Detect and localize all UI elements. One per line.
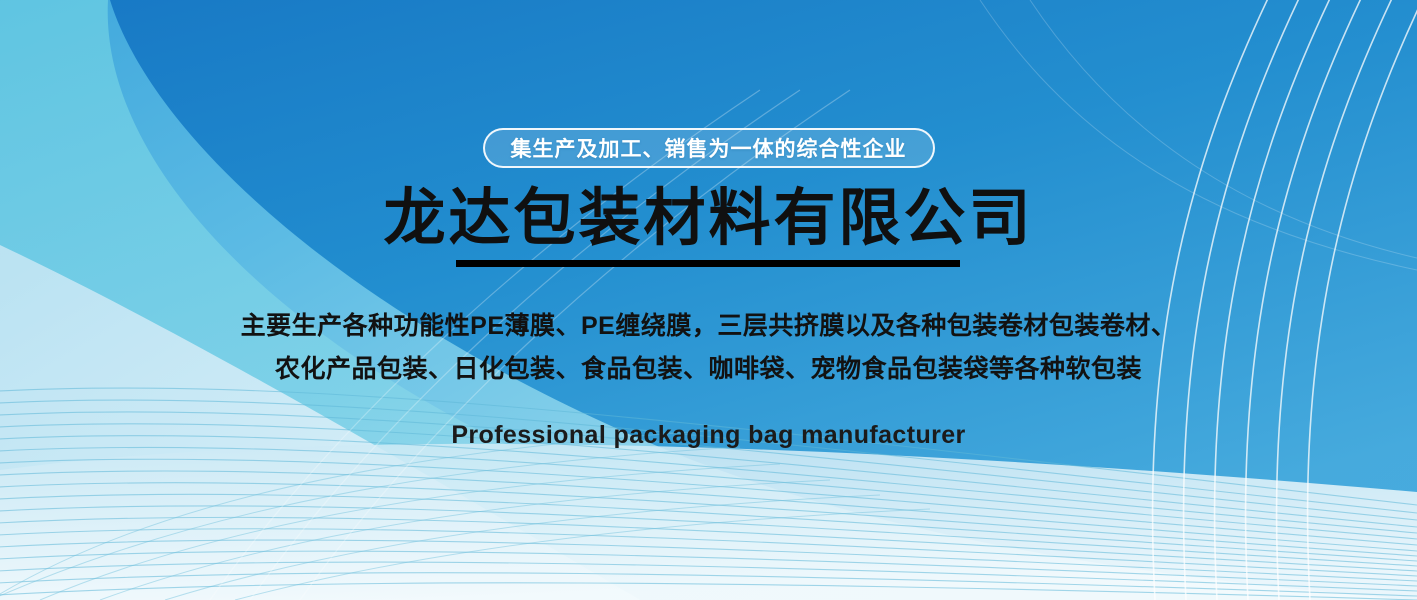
title-underline-rule xyxy=(456,260,960,267)
banner-content: 集生产及加工、销售为一体的综合性企业 龙达包装材料有限公司 主要生产各种功能性P… xyxy=(0,0,1417,600)
promo-banner: 集生产及加工、销售为一体的综合性企业 龙达包装材料有限公司 主要生产各种功能性P… xyxy=(0,0,1417,600)
company-title: 龙达包装材料有限公司 xyxy=(383,186,1033,251)
title-block: 龙达包装材料有限公司 xyxy=(383,186,1033,267)
description-line-1: 主要生产各种功能性PE薄膜、PE缠绕膜，三层共挤膜以及各种包装卷材包装卷材、 xyxy=(241,305,1177,348)
description-line-2: 农化产品包装、日化包装、食品包装、咖啡袋、宠物食品包装袋等各种软包装 xyxy=(241,348,1177,391)
description-block: 主要生产各种功能性PE薄膜、PE缠绕膜，三层共挤膜以及各种包装卷材包装卷材、 农… xyxy=(241,305,1177,391)
tagline-pill: 集生产及加工、销售为一体的综合性企业 xyxy=(483,128,935,168)
english-subtitle: Professional packaging bag manufacturer xyxy=(451,421,965,450)
